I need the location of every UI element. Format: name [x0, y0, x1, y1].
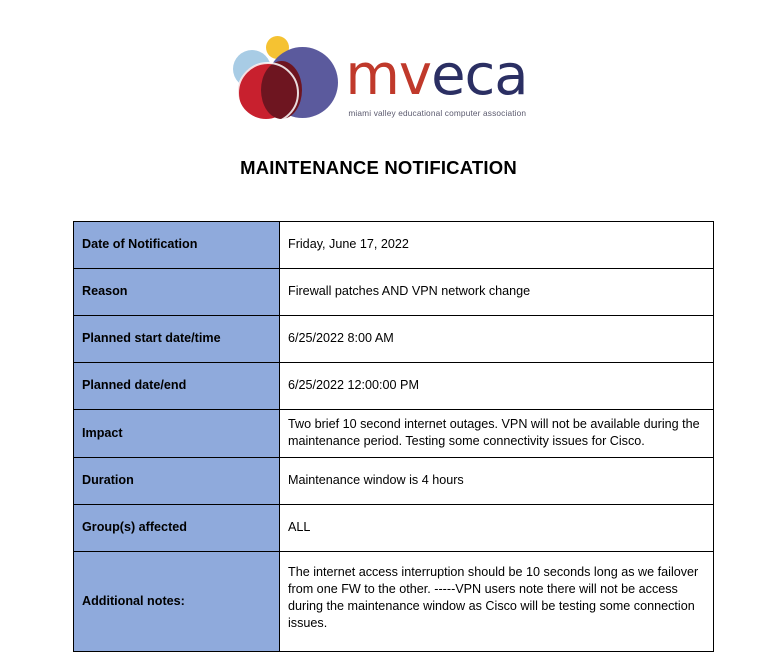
row-value-planned-start: 6/25/2022 8:00 AM: [280, 316, 714, 363]
table-row: Date of Notification Friday, June 17, 20…: [74, 222, 714, 269]
logo-wordmark-eca: eca: [431, 43, 528, 108]
row-label-duration: Duration: [74, 458, 280, 505]
table-row: Duration Maintenance window is 4 hours: [74, 458, 714, 505]
row-label-reason: Reason: [74, 269, 280, 316]
row-value-planned-end: 6/25/2022 12:00:00 PM: [280, 363, 714, 410]
row-label-additional-notes: Additional notes:: [74, 552, 280, 652]
table-row: Impact Two brief 10 second internet outa…: [74, 410, 714, 458]
mveca-logo-mark-icon: [229, 30, 341, 130]
row-label-groups-affected: Group(s) affected: [74, 505, 280, 552]
logo-wordmark: mveca: [345, 48, 527, 104]
logo-tagline: miami valley educational computer associ…: [348, 108, 527, 118]
row-value-date-of-notification: Friday, June 17, 2022: [280, 222, 714, 269]
row-value-groups-affected: ALL: [280, 505, 714, 552]
table-row: Reason Firewall patches AND VPN network …: [74, 269, 714, 316]
row-label-planned-start: Planned start date/time: [74, 316, 280, 363]
maintenance-details-table-wrapper: Date of Notification Friday, June 17, 20…: [73, 221, 714, 652]
table-row: Additional notes: The internet access in…: [74, 552, 714, 652]
logo-header: mveca miami valley educational computer …: [0, 0, 757, 130]
table-row: Group(s) affected ALL: [74, 505, 714, 552]
maintenance-details-table: Date of Notification Friday, June 17, 20…: [73, 221, 714, 652]
row-label-date-of-notification: Date of Notification: [74, 222, 280, 269]
logo-wordmark-mv: mv: [345, 43, 431, 108]
logo-circle-rim-icon: [237, 62, 299, 124]
table-row: Planned start date/time 6/25/2022 8:00 A…: [74, 316, 714, 363]
row-value-duration: Maintenance window is 4 hours: [280, 458, 714, 505]
row-value-additional-notes: The internet access interruption should …: [280, 552, 714, 652]
mveca-logo: mveca miami valley educational computer …: [229, 30, 527, 130]
row-label-planned-end: Planned date/end: [74, 363, 280, 410]
row-label-impact: Impact: [74, 410, 280, 458]
table-row: Planned date/end 6/25/2022 12:00:00 PM: [74, 363, 714, 410]
row-value-reason: Firewall patches AND VPN network change: [280, 269, 714, 316]
page-title: MAINTENANCE NOTIFICATION: [0, 157, 757, 179]
logo-text-block: mveca miami valley educational computer …: [345, 42, 527, 118]
row-value-impact: Two brief 10 second internet outages. VP…: [280, 410, 714, 458]
